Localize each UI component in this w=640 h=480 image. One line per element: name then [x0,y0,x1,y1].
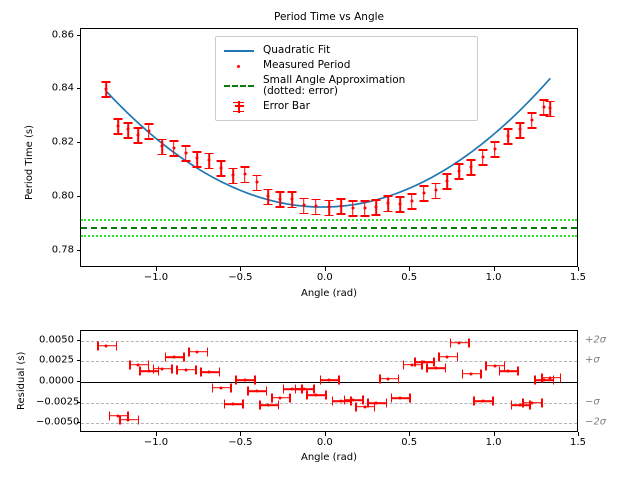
y-tick-mark [77,142,81,143]
data-point [231,174,234,177]
error-bar-cap [490,156,499,158]
y-tick-label: 0.80 [36,190,74,201]
errorbar-cap-icon [233,111,244,113]
data-point [291,197,294,200]
data-point [314,394,317,397]
error-bar-cap [455,163,464,165]
data-point [105,87,108,90]
error-bar-cap [240,182,249,184]
error-bar-cap [348,215,357,217]
error-bar-cap [490,141,499,143]
error-bar-cap [466,159,475,161]
error-bar-cap [325,215,334,217]
error-bar-cap [443,173,452,175]
data-point [243,379,246,382]
error-bar-cap [181,145,190,147]
legend-label-2: Small Angle Approximation(dotted: error) [263,75,405,99]
data-point [279,197,282,200]
error-bar-cap [407,208,416,210]
error-bar-cap [485,361,487,370]
y-tick-label: 0.86 [36,29,74,40]
error-bar-cap [165,353,167,362]
data-point [302,388,305,391]
error-bar-cap [235,376,237,385]
error-bar-cap [522,398,524,407]
error-bar-cap [433,358,435,367]
data-point [267,404,270,407]
error-bar-cap [344,396,346,405]
residual-axes [80,330,578,432]
error-bar-cap [134,142,143,144]
error-bar-cap [478,149,487,151]
data-point [434,189,437,192]
x-tick-label: 0.5 [401,437,417,448]
error-bar-cap [295,385,297,394]
error-bar-cap [511,401,513,410]
error-bar-cap [144,123,153,125]
x-tick-mark [240,267,241,271]
data-point [184,368,187,371]
data-point [255,181,258,184]
error-bar-cap [473,396,475,405]
x-tick-mark [325,432,326,436]
data-point [196,350,199,353]
x-tick-mark [494,432,495,436]
data-point [351,206,354,209]
x-tick-mark [409,267,410,271]
data-point [147,370,150,373]
sigma-tick-label: −σ [585,396,625,407]
data-point [231,403,234,406]
data-point [549,376,552,379]
error-bar-cap [299,198,308,200]
error-bar-cap [138,415,140,424]
data-point [387,202,390,205]
error-bar-cap [247,387,249,396]
error-bar-cap [362,396,364,405]
data-point [469,165,472,168]
legend-label-1: Measured Period [263,60,350,72]
legend-key-errorbar [222,100,256,114]
data-point [302,204,305,207]
error-bar-cap [102,96,111,98]
error-bar-cap [336,213,345,215]
x-tick-label: −1.0 [144,272,168,283]
error-bar-cap [219,368,221,377]
error-bar-cap [360,215,369,217]
error-bar-cap [504,143,513,145]
error-bar-cap [205,153,214,155]
x-tick-label: 0.0 [317,272,333,283]
error-bar-cap [517,367,519,376]
error-bar-cap [396,196,405,198]
error-bar-cap [116,341,118,350]
error-bar-cap [426,364,428,373]
x-tick-mark [156,432,157,436]
error-bar-cap [386,399,388,408]
error-bar-cap [313,385,315,394]
error-bar-cap [398,374,400,383]
y-tick-label: 0.0050 [36,334,74,345]
error-bar-cap [288,191,297,193]
error-bar-cap [181,160,190,162]
error-bar-cap [271,393,273,402]
y-tick-label: 0.0000 [36,376,74,387]
data-point [291,388,294,391]
error-bar-cap [504,128,513,130]
sigma-guide-line-0 [81,423,577,424]
data-point [279,396,282,399]
legend-label-3: Error Bar [263,101,310,113]
error-bar-cap [541,398,543,407]
data-point [117,124,120,127]
x-tick-label: −0.5 [228,437,252,448]
data-point [243,173,246,176]
data-point [518,128,521,131]
error-bar-cap [478,164,487,166]
error-bar-cap [443,188,452,190]
error-bar-cap [217,175,226,177]
error-bar-cap [276,206,285,208]
error-bar-cap [124,137,133,139]
y-tick-mark [77,35,81,36]
data-point [328,206,331,209]
error-bar-cap [193,166,202,168]
data-point [375,205,378,208]
x-tick-label: −0.5 [228,272,252,283]
error-bar-cap [306,391,308,400]
y-tick-label: 0.78 [36,244,74,255]
sigma-guide-line-2 [81,361,577,362]
legend-item-3: Error Bar [222,100,470,114]
error-bar-cap [129,360,131,369]
error-bar-cap [336,198,345,200]
error-bar-cap [396,211,405,213]
error-bar-cap [325,391,327,400]
error-bar-cap [264,204,273,206]
error-bar-cap [264,189,273,191]
error-bar-cap [193,151,202,153]
x-tick-label: 1.5 [570,437,586,448]
data-point [137,363,140,366]
x-tick-mark [578,432,579,436]
data-point [339,399,342,402]
legend-item-2: Small Angle Approximation(dotted: error) [222,75,470,99]
error-bar-cap [384,211,393,213]
error-bar-cap [278,401,280,410]
error-bar-cap [431,198,440,200]
error-bar-cap [391,394,393,403]
error-bar-cap [546,101,555,103]
error-bar-cap [230,383,232,392]
data-point [339,204,342,207]
data-point [530,401,533,404]
error-bar-cap [212,383,214,392]
data-point [410,199,413,202]
y-tick-label: −0.0025 [36,396,74,407]
legend-label-0: Quadratic Fit [263,45,330,57]
error-bar-cap [169,140,178,142]
error-bar-cap [283,385,285,394]
data-point [422,191,425,194]
error-bar-cap [348,200,357,202]
error-bar-cap [158,154,167,156]
error-bar-cap [499,367,501,376]
data-point [314,205,317,208]
error-bar-cap [431,183,440,185]
data-point [208,371,211,374]
data-point [351,399,354,402]
error-bar-cap [384,195,393,197]
y-tick-label: 0.84 [36,83,74,94]
error-bar-cap [114,133,123,135]
data-point [530,118,533,121]
data-point [422,361,425,364]
error-bar-cap [252,175,261,177]
error-bar-cap [289,393,291,402]
residual-plot-area [81,331,577,431]
sigma-guide-line-3 [81,341,577,342]
error-bar-cap [438,352,440,361]
x-tick-label: −1.0 [144,437,168,448]
data-point [481,399,484,402]
residual-ylabel: Residual (s) [16,352,27,410]
legend-item-1: Measured Period [222,59,470,73]
error-bar-cap [299,213,308,215]
y-tick-mark [77,250,81,251]
data-point [410,363,413,366]
data-point [446,355,449,358]
y-tick-label: 0.82 [36,137,74,148]
data-point [458,341,461,344]
dot-swatch-icon [237,65,240,68]
error-bar-cap [188,347,190,356]
errorbar-cap-icon [233,102,244,104]
data-point [493,147,496,150]
error-bar-cap [266,387,268,396]
data-point [267,195,270,198]
x-tick-mark [156,267,157,271]
data-point [172,146,175,149]
x-tick-label: 1.0 [486,272,502,283]
x-tick-mark [494,267,495,271]
error-bar-cap [560,373,562,382]
data-point [127,128,130,131]
y-tick-mark [77,381,81,382]
error-bar-cap [527,112,536,114]
sigma-tick-label: +σ [585,355,625,366]
error-bar-cap [407,193,416,195]
data-point [469,372,472,375]
data-point [446,179,449,182]
data-point [328,379,331,382]
x-tick-label: 1.5 [570,272,586,283]
data-point [147,129,150,132]
error-bar-cap [228,168,237,170]
error-bar-cap [515,122,524,124]
data-point [493,364,496,367]
error-bar-cap [109,411,111,420]
dashed-line-swatch-icon [224,85,254,87]
data-point [363,405,366,408]
data-point [518,404,521,407]
y-tick-mark [77,360,81,361]
error-bar-cap [144,138,153,140]
line-swatch-icon [224,50,254,52]
error-bar-cap [546,116,555,118]
sigma-tick-label: +2σ [585,334,625,345]
data-point [208,159,211,162]
x-tick-mark [578,267,579,271]
data-point [161,367,164,370]
data-point [542,105,545,108]
error-bar-cap [462,369,464,378]
x-tick-label: 0.5 [401,272,417,283]
residual-xlabel: Angle (rad) [80,452,578,463]
error-bar-cap [332,396,334,405]
error-bar-cap [97,341,99,350]
errorbar-mid-icon [235,105,244,107]
error-bar-cap [468,338,470,347]
data-point [549,107,552,110]
data-point [507,134,510,137]
error-bar-cap [259,401,261,410]
data-point [127,418,130,421]
error-bar-cap [195,365,197,374]
data-point [220,386,223,389]
error-bar-cap [139,367,141,376]
error-bar-cap [169,155,178,157]
data-point [196,157,199,160]
error-bar-cap [534,376,536,385]
error-bar-cap [252,190,261,192]
data-point [161,145,164,148]
error-bar-cap [158,139,167,141]
error-bar-cap [148,360,150,369]
error-bar-cap [240,166,249,168]
error-bar-cap [311,199,320,201]
error-bar-cap [409,394,411,403]
error-bar-cap [153,364,155,373]
error-bar-cap [124,122,133,124]
error-bar-cap [419,185,428,187]
error-bar-cap [515,137,524,139]
error-bar-cap [228,183,237,185]
data-point [375,402,378,405]
error-bar-cap [325,200,334,202]
error-bar-cap [403,360,405,369]
error-bar-cap [288,207,297,209]
error-bar-cap [176,365,178,374]
legend-key-line [222,44,256,58]
data-point [255,390,258,393]
y-tick-label: 0.0025 [36,355,74,366]
error-bar-cap [320,376,322,385]
error-bar-cap [504,361,506,370]
error-bar-cap [242,400,244,409]
error-bar-cap [254,376,256,385]
data-point [105,344,108,347]
sigma-tick-label: −2σ [585,417,625,428]
error-bar-cap [119,415,121,424]
data-point [387,377,390,380]
error-bar-cap [414,358,416,367]
error-bar-cap [183,353,185,362]
x-tick-label: 0.0 [317,437,333,448]
data-point [220,166,223,169]
error-bar-cap [492,396,494,405]
error-bar-cap [455,178,464,180]
data-point [184,151,187,154]
error-bar-cap [480,369,482,378]
legend-item-0: Quadratic Fit [222,44,470,58]
legend-key-dot [222,59,256,73]
legend-key-dash [222,79,256,93]
error-bar-cap [360,200,369,202]
error-bar-cap [355,402,357,411]
error-bar-cap [102,81,111,83]
y-tick-label: −0.0050 [36,417,74,428]
data-point [507,370,510,373]
main-ylabel: Period Time (s) [24,125,35,200]
error-bar-cap [134,127,143,129]
error-bar-cap [457,352,459,361]
error-bar-cap [311,214,320,216]
y-tick-mark [77,88,81,89]
error-bar-cap [207,347,209,356]
error-bar-cap [419,200,428,202]
sigma-guide-line-1 [81,403,577,404]
data-point [137,133,140,136]
error-bar-cap [224,400,226,409]
error-bar-cap [372,214,381,216]
error-bar-cap [527,127,536,129]
error-bar-cap [171,364,173,373]
error-bar-cap [372,199,381,201]
error-bar-cap [276,191,285,193]
error-bar-cap [114,118,123,120]
matplotlib-figure: Period Time vs Angle −1.0−0.50.00.51.01.… [0,0,640,480]
x-tick-mark [240,432,241,436]
data-point [458,169,461,172]
error-bar-cap [367,399,369,408]
x-tick-mark [325,267,326,271]
error-bar-cap [541,373,543,382]
data-point [172,356,175,359]
error-bar-cap [379,374,381,383]
y-tick-mark [77,340,81,341]
legend: Quadratic FitMeasured PeriodSmall Angle … [215,36,478,121]
y-tick-mark [77,196,81,197]
error-bar-cap [200,368,202,377]
error-bar-cap [450,338,452,347]
data-point [363,206,366,209]
page-title: Period Time vs Angle [81,11,577,23]
error-bar-cap [466,174,475,176]
data-point [399,397,402,400]
data-point [481,155,484,158]
x-tick-label: 1.0 [486,437,502,448]
data-point [434,367,437,370]
error-bar-cap [338,376,340,385]
error-bar-cap [205,168,214,170]
reference-line-zero [81,382,577,383]
error-bar-cap [217,160,226,162]
main-xlabel: Angle (rad) [80,288,578,299]
data-point [399,202,402,205]
error-bar-cap [445,364,447,373]
x-tick-mark [409,432,410,436]
